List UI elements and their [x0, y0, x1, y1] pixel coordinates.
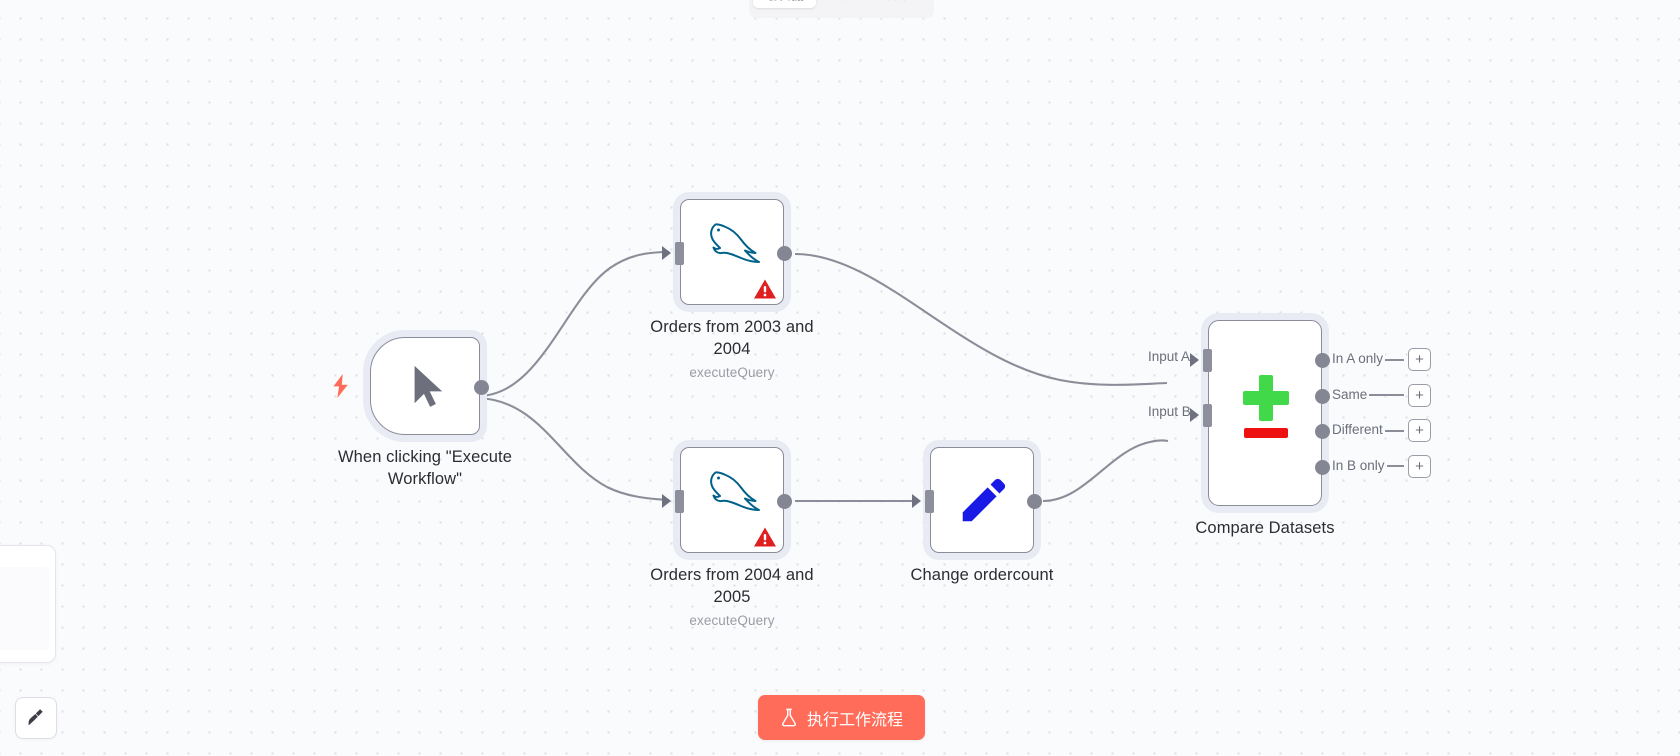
change-output-dot[interactable]: [1027, 494, 1042, 509]
compare-input-a-port[interactable]: [1203, 349, 1212, 372]
add-node-button-same[interactable]: +: [1408, 384, 1431, 407]
change-input-arrow: [912, 494, 921, 508]
workflow-canvas[interactable]: 编辑器 执行 评估 When clicking: [0, 0, 1680, 756]
compare-output-different-label: Different: [1330, 422, 1385, 437]
node-mysql-2004-2005[interactable]: Orders from 2004 and 2005 executeQuery: [680, 447, 784, 553]
trigger-output-dot[interactable]: [474, 380, 489, 395]
warning-triangle-icon[interactable]: [753, 278, 777, 300]
blue-pencil-icon: [955, 471, 1013, 529]
lightning-bolt-icon: [332, 374, 350, 398]
node-compare-datasets[interactable]: Input A Input B In A only Same Different…: [1208, 320, 1322, 506]
compare-output-in-a-only-dot[interactable]: [1315, 353, 1330, 368]
node-body[interactable]: [930, 447, 1034, 553]
workflow-tabbar: 编辑器 执行 评估: [749, 0, 934, 18]
broom-icon: [25, 707, 47, 729]
node-change-ordercount[interactable]: Change ordercount: [930, 447, 1034, 553]
node-subtitle-mysql-2003-2004: executeQuery: [618, 365, 846, 380]
node-body[interactable]: [1208, 320, 1322, 506]
compare-output-in-b-only-dot[interactable]: [1315, 460, 1330, 475]
compare-input-a-arrow: [1190, 353, 1199, 367]
node-subtitle-mysql-2004-2005: executeQuery: [618, 613, 846, 628]
left-side-panel[interactable]: [0, 545, 56, 663]
mysql-2004-input[interactable]: [675, 490, 684, 513]
node-body[interactable]: [680, 199, 784, 305]
compare-input-b-arrow: [1190, 408, 1199, 422]
mysql-2003-output-dot[interactable]: [777, 246, 792, 261]
node-label-compare-datasets: Compare Datasets: [1146, 518, 1384, 540]
execute-workflow-label: 执行工作流程: [807, 706, 903, 730]
mysql-2003-input-arrow: [662, 246, 671, 260]
node-body[interactable]: [680, 447, 784, 553]
execute-workflow-button[interactable]: 执行工作流程: [758, 695, 925, 740]
node-manual-trigger[interactable]: When clicking "Execute Workflow": [370, 337, 480, 435]
plus-minus-icon: [1234, 371, 1298, 445]
edge-change-to-compare-b: [1043, 440, 1168, 501]
mysql-dolphin-icon: [701, 466, 767, 518]
node-body[interactable]: [370, 337, 480, 435]
compare-output-different-dot[interactable]: [1315, 424, 1330, 439]
left-side-panel-content: [0, 567, 49, 650]
tidy-up-button[interactable]: [15, 697, 57, 739]
edge-mysql-2003-to-compare-a: [795, 254, 1167, 385]
flask-icon: [780, 708, 798, 727]
node-label-mysql-2003-2004: Orders from 2003 and 2004: [618, 317, 846, 361]
add-node-button-different[interactable]: +: [1408, 419, 1431, 442]
warning-triangle-icon[interactable]: [753, 526, 777, 548]
add-node-button-in-b-only[interactable]: +: [1408, 455, 1431, 478]
change-input[interactable]: [925, 490, 934, 513]
mysql-2004-input-arrow: [662, 494, 671, 508]
mysql-2003-input[interactable]: [675, 242, 684, 265]
compare-output-same-dot[interactable]: [1315, 389, 1330, 404]
cursor-arrow-icon: [405, 362, 451, 412]
compare-output-same-label: Same: [1330, 387, 1369, 402]
tab-editor[interactable]: 编辑器: [753, 0, 816, 8]
mysql-2004-output-dot[interactable]: [777, 494, 792, 509]
add-node-button-in-a-only[interactable]: +: [1408, 348, 1431, 371]
compare-input-a-label: Input A: [1148, 349, 1190, 364]
compare-input-b-port[interactable]: [1203, 404, 1212, 427]
node-mysql-2003-2004[interactable]: Orders from 2003 and 2004 executeQuery: [680, 199, 784, 305]
node-label-mysql-2004-2005: Orders from 2004 and 2005: [618, 565, 846, 609]
compare-output-in-b-only-label: In B only: [1330, 458, 1387, 473]
tab-executions[interactable]: 执行: [818, 0, 867, 8]
node-label-change-ordercount: Change ordercount: [870, 565, 1094, 587]
mysql-dolphin-icon: [701, 218, 767, 270]
compare-input-b-label: Input B: [1148, 404, 1191, 419]
tab-evaluations[interactable]: 评估: [869, 0, 918, 8]
compare-output-in-a-only-label: In A only: [1330, 351, 1385, 366]
node-label-manual-trigger: When clicking "Execute Workflow": [310, 447, 540, 491]
